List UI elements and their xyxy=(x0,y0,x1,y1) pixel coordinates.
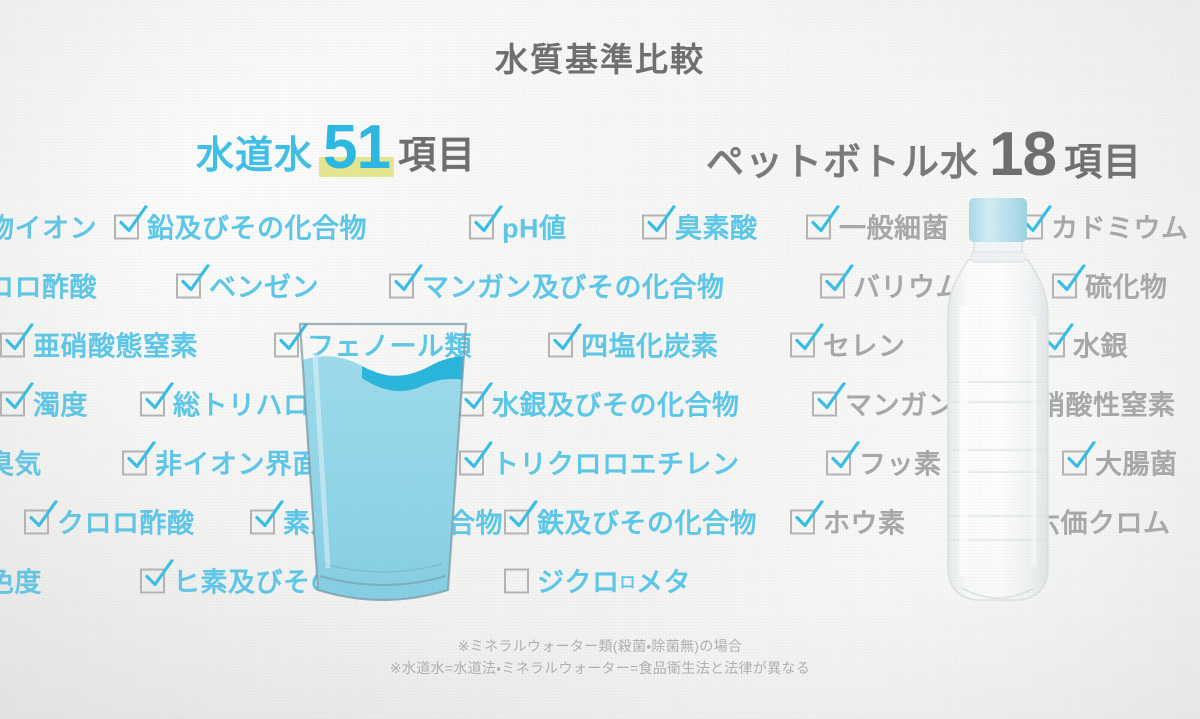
checklist-item-label: 鉄及びその化合物 xyxy=(537,501,757,540)
checklist-item-label: ロロ酢酸 xyxy=(0,265,97,304)
checklist-item-label-suffix: メタ xyxy=(636,567,691,597)
checkbox-checked-icon[interactable] xyxy=(642,212,669,239)
checklist-item-label: 亜硝酸態窒素 xyxy=(33,324,198,363)
checkbox-checked-icon[interactable] xyxy=(24,507,51,534)
headline-bottled-water: ペットボトル水 18 項目 xyxy=(706,124,1142,186)
checklist-item-label: トリクロロエチレン xyxy=(492,442,740,481)
checkbox-checked-icon[interactable] xyxy=(0,389,27,416)
checklist-item-label: 鉛及びその化合物 xyxy=(147,206,367,245)
checklist-item-label: 水銀 xyxy=(1073,324,1128,363)
checklist-row: ロロ酢酸ベンゼンマンガン及びその化合物 xyxy=(0,255,790,314)
headline-bottled-water-count-wrap: 18 xyxy=(989,124,1056,186)
checklist-item[interactable]: クロロ酢酸 xyxy=(24,501,195,540)
checklist-item[interactable]: 濁度 xyxy=(0,383,88,422)
checklist-row: 物イオン鉛及びその化合物pH値臭素酸 xyxy=(0,196,790,255)
checklist-item[interactable]: 水銀及びその化合物 xyxy=(459,383,740,422)
checklist-item-label: 四塩化炭素 xyxy=(581,324,719,363)
checklist-item-label: カドミウム xyxy=(1051,206,1189,245)
checklist-item[interactable]: トリクロロエチレン xyxy=(459,442,740,481)
infographic-canvas: 水質基準比較 水道水 51 項目 ペットボトル水 18 項目 物イオン鉛及びその… xyxy=(0,0,1200,719)
checklist-item-label: セレン xyxy=(823,324,906,363)
checkbox-checked-icon[interactable] xyxy=(790,507,817,534)
checklist-item[interactable]: 物イオン xyxy=(0,206,97,245)
checkbox-checked-icon[interactable] xyxy=(389,271,416,298)
checkbox-checked-icon[interactable] xyxy=(0,330,27,357)
checklist-item-label: ホウ素 xyxy=(823,501,906,540)
page-title: 水質基準比較 xyxy=(0,33,1200,81)
footnote-1: ※ミネラルウォーター類(殺菌・除菌無)の場合 xyxy=(0,636,1200,658)
footnotes: ※ミネラルウォーター類(殺菌・除菌無)の場合 ※水道水=水道法・ミネラルウォータ… xyxy=(0,636,1200,679)
checklist-item-label: 臭素酸 xyxy=(675,206,758,245)
headline-tap-water-label: 水道水 xyxy=(196,124,313,179)
checklist-item[interactable]: 臭素酸 xyxy=(642,206,758,245)
checklist-item[interactable]: ロロ酢酸 xyxy=(0,265,97,304)
checklist-item-label: 臭気 xyxy=(0,442,42,481)
checklist-item-label: 水銀及びその化合物 xyxy=(492,383,740,422)
checklist-item-label: 色度 xyxy=(0,560,42,599)
checklist-item-label: ベンゼン xyxy=(209,265,319,304)
checklist-item-label: 濁度 xyxy=(33,383,88,422)
checklist-item[interactable]: 大腸菌 xyxy=(1062,442,1178,481)
checkbox-checked-icon[interactable] xyxy=(114,212,141,239)
bottle-cap xyxy=(969,198,1027,242)
checklist-item[interactable]: 鉛及びその化合物 xyxy=(114,206,367,245)
checkbox-checked-icon[interactable] xyxy=(548,330,575,357)
checkbox-empty-icon[interactable] xyxy=(504,566,531,593)
checklist-item-label: pH値 xyxy=(502,206,567,245)
headline-bottled-water-label: ペットボトル水 xyxy=(706,131,979,186)
checkbox-checked-icon[interactable] xyxy=(826,448,853,475)
checklist-item-label: マンガン及びその化合物 xyxy=(422,265,725,304)
checklist-item-label: クロロ酢酸 xyxy=(57,501,195,540)
checklist-item-label: 物イオン xyxy=(0,206,97,245)
checklist-item-label-small: ロ xyxy=(620,574,637,591)
plastic-bottle-illustration xyxy=(928,196,1068,611)
checklist-item-label: ジクロロメタ xyxy=(537,560,691,599)
checklist-item[interactable]: セレン xyxy=(790,324,906,363)
checklist-item[interactable]: 四塩化炭素 xyxy=(548,324,719,363)
checkbox-box xyxy=(504,568,529,593)
headline-bottled-water-unit: 項目 xyxy=(1064,131,1142,186)
checkbox-checked-icon[interactable] xyxy=(140,566,167,593)
checklist-item[interactable]: ベンゼン xyxy=(176,265,319,304)
checklist-item[interactable]: pH値 xyxy=(469,206,567,245)
checkbox-checked-icon[interactable] xyxy=(140,389,167,416)
checkbox-checked-icon[interactable] xyxy=(176,271,203,298)
footnote-2: ※水道水=水道法・ミネラルウォーター=食品衛生法と法律が異なる xyxy=(0,658,1200,680)
headline-bottled-water-count: 18 xyxy=(989,120,1056,189)
checkbox-checked-icon[interactable] xyxy=(812,389,839,416)
checklist-item-label: 大腸菌 xyxy=(1095,442,1178,481)
checkbox-checked-icon[interactable] xyxy=(122,448,149,475)
checklist-item[interactable]: フッ素 xyxy=(826,442,942,481)
checkbox-checked-icon[interactable] xyxy=(806,212,833,239)
checklist-item[interactable]: 亜硝酸態窒素 xyxy=(0,324,198,363)
checklist-item[interactable]: 色度 xyxy=(0,560,42,599)
checkbox-checked-icon[interactable] xyxy=(790,330,817,357)
headline-tap-water: 水道水 51 項目 xyxy=(196,117,476,179)
checklist-item[interactable]: ジクロロメタ xyxy=(504,560,691,599)
checklist-item[interactable]: 硫化物 xyxy=(1052,265,1168,304)
checkbox-checked-icon[interactable] xyxy=(820,271,847,298)
bottle-neck-ring xyxy=(971,252,1025,262)
checkbox-checked-icon[interactable] xyxy=(250,507,277,534)
headline-tap-water-count-wrap: 51 xyxy=(323,117,390,179)
headline-tap-water-unit: 項目 xyxy=(398,124,476,179)
checklist-item[interactable]: 臭気 xyxy=(0,442,42,481)
drinking-glass-illustration xyxy=(288,318,478,608)
checklist-item-label: 硫化物 xyxy=(1085,265,1168,304)
checklist-item[interactable]: マンガン及びその化合物 xyxy=(389,265,725,304)
headline-tap-water-count: 51 xyxy=(323,113,390,182)
checklist-item[interactable]: 鉄及びその化合物 xyxy=(504,501,757,540)
checkbox-checked-icon[interactable] xyxy=(469,212,496,239)
checklist-item[interactable]: ホウ素 xyxy=(790,501,906,540)
checkbox-checked-icon[interactable] xyxy=(504,507,531,534)
